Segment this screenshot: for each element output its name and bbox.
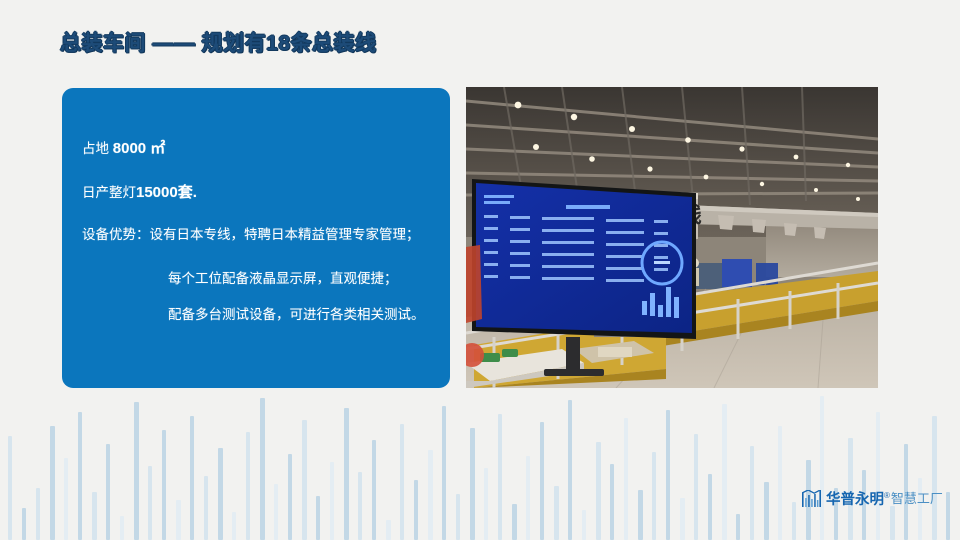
info-line-test-equipment: 配备多台测试设备，可进行各类相关测试。 — [82, 306, 434, 324]
slide-root: 总装车间 —— 规划有18条总装线 占地 8000 ㎡ 日产整灯15000套. … — [0, 0, 960, 540]
info-line-output-value: 15000 — [136, 184, 178, 201]
bar-chart-decoration — [0, 396, 960, 540]
huapu-yongming-logo-mark-icon — [802, 490, 821, 507]
info-line-output: 日产整灯15000套. — [82, 184, 434, 202]
info-panel: 占地 8000 ㎡ 日产整灯15000套. 设备优势：设有日本专线，特聘日本精益… — [62, 88, 450, 388]
logo-brand-text: 华普永明® — [826, 487, 890, 509]
page-title: 总装车间 —— 规划有18条总装线 — [60, 31, 377, 57]
info-line-equipment-advantage-text: 设备优势：设有日本专线，特聘日本精益管理专家管理； — [82, 227, 420, 242]
logo-trademark: ® — [884, 491, 890, 500]
factory-photo-svg: 1号组装线 Assembly line 1 — [466, 87, 878, 388]
info-line-test-equipment-text: 配备多台测试设备，可进行各类相关测试。 — [168, 307, 425, 322]
info-line-equipment-advantage: 设备优势：设有日本专线，特聘日本精益管理专家管理； — [82, 226, 434, 244]
info-line-area: 占地 8000 ㎡ — [82, 140, 434, 158]
factory-photo: 1号组装线 Assembly line 1 — [466, 87, 878, 388]
info-line-area-prefix: 占地 — [82, 141, 113, 156]
info-line-output-prefix: 日产整灯 — [82, 185, 136, 200]
info-line-area-value: 8000 ㎡ — [113, 140, 166, 157]
brand-logo: 华普永明® 智慧工厂 — [802, 487, 943, 509]
logo-tagline: 智慧工厂 — [891, 490, 943, 507]
info-line-lcd-screens-text: 每个工位配备液晶显示屏，直观便捷； — [168, 271, 398, 286]
logo-brand-name: 华普永明 — [826, 492, 884, 508]
info-line-lcd-screens: 每个工位配备液晶显示屏，直观便捷； — [82, 270, 434, 288]
info-line-output-suffix: 套. — [178, 184, 197, 201]
